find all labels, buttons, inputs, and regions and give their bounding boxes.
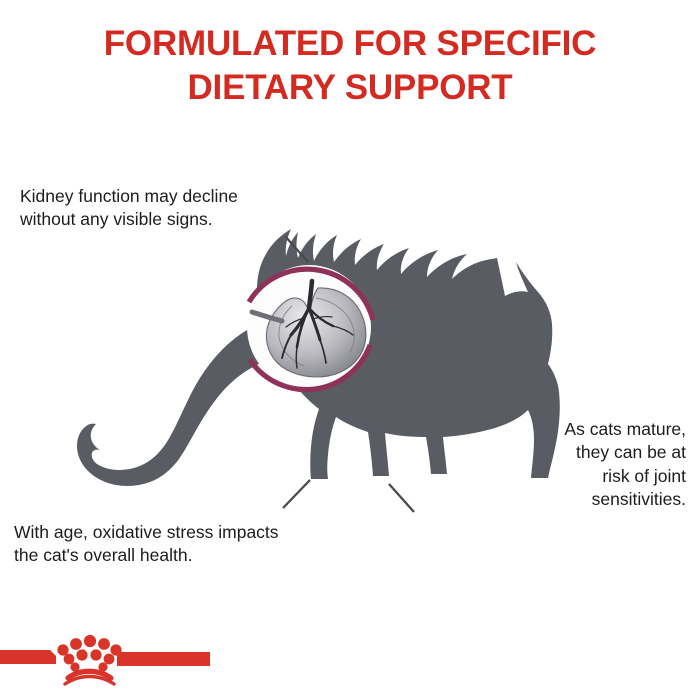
- callout-oxidative-stress: With age, oxidative stress impacts the c…: [14, 521, 334, 568]
- callout-oxidative-line-1: With age, oxidative stress impacts: [14, 521, 334, 544]
- poster-canvas: FORMULATED FOR SPECIFIC DIETARY SUPPORT: [0, 0, 700, 700]
- callout-joint-line-1: As cats mature,: [491, 418, 686, 441]
- callout-joint-line-4: sensitivities.: [491, 488, 686, 511]
- callout-joint-line-3: risk of joint: [491, 465, 686, 488]
- callout-kidney-function: Kidney function may decline without any …: [20, 185, 320, 232]
- connector-bottom-left: [14, 480, 310, 508]
- callout-joint-line-2: they can be at: [491, 441, 686, 464]
- callout-kidney-line-2: without any visible signs.: [20, 208, 320, 231]
- callout-joint-sensitivities: As cats mature, they can be at risk of j…: [491, 418, 686, 511]
- royal-canin-logo: [0, 628, 210, 692]
- illustration-graphic: [0, 0, 700, 700]
- callout-oxidative-line-2: the cat's overall health.: [14, 544, 334, 567]
- callout-kidney-line-1: Kidney function may decline: [20, 185, 320, 208]
